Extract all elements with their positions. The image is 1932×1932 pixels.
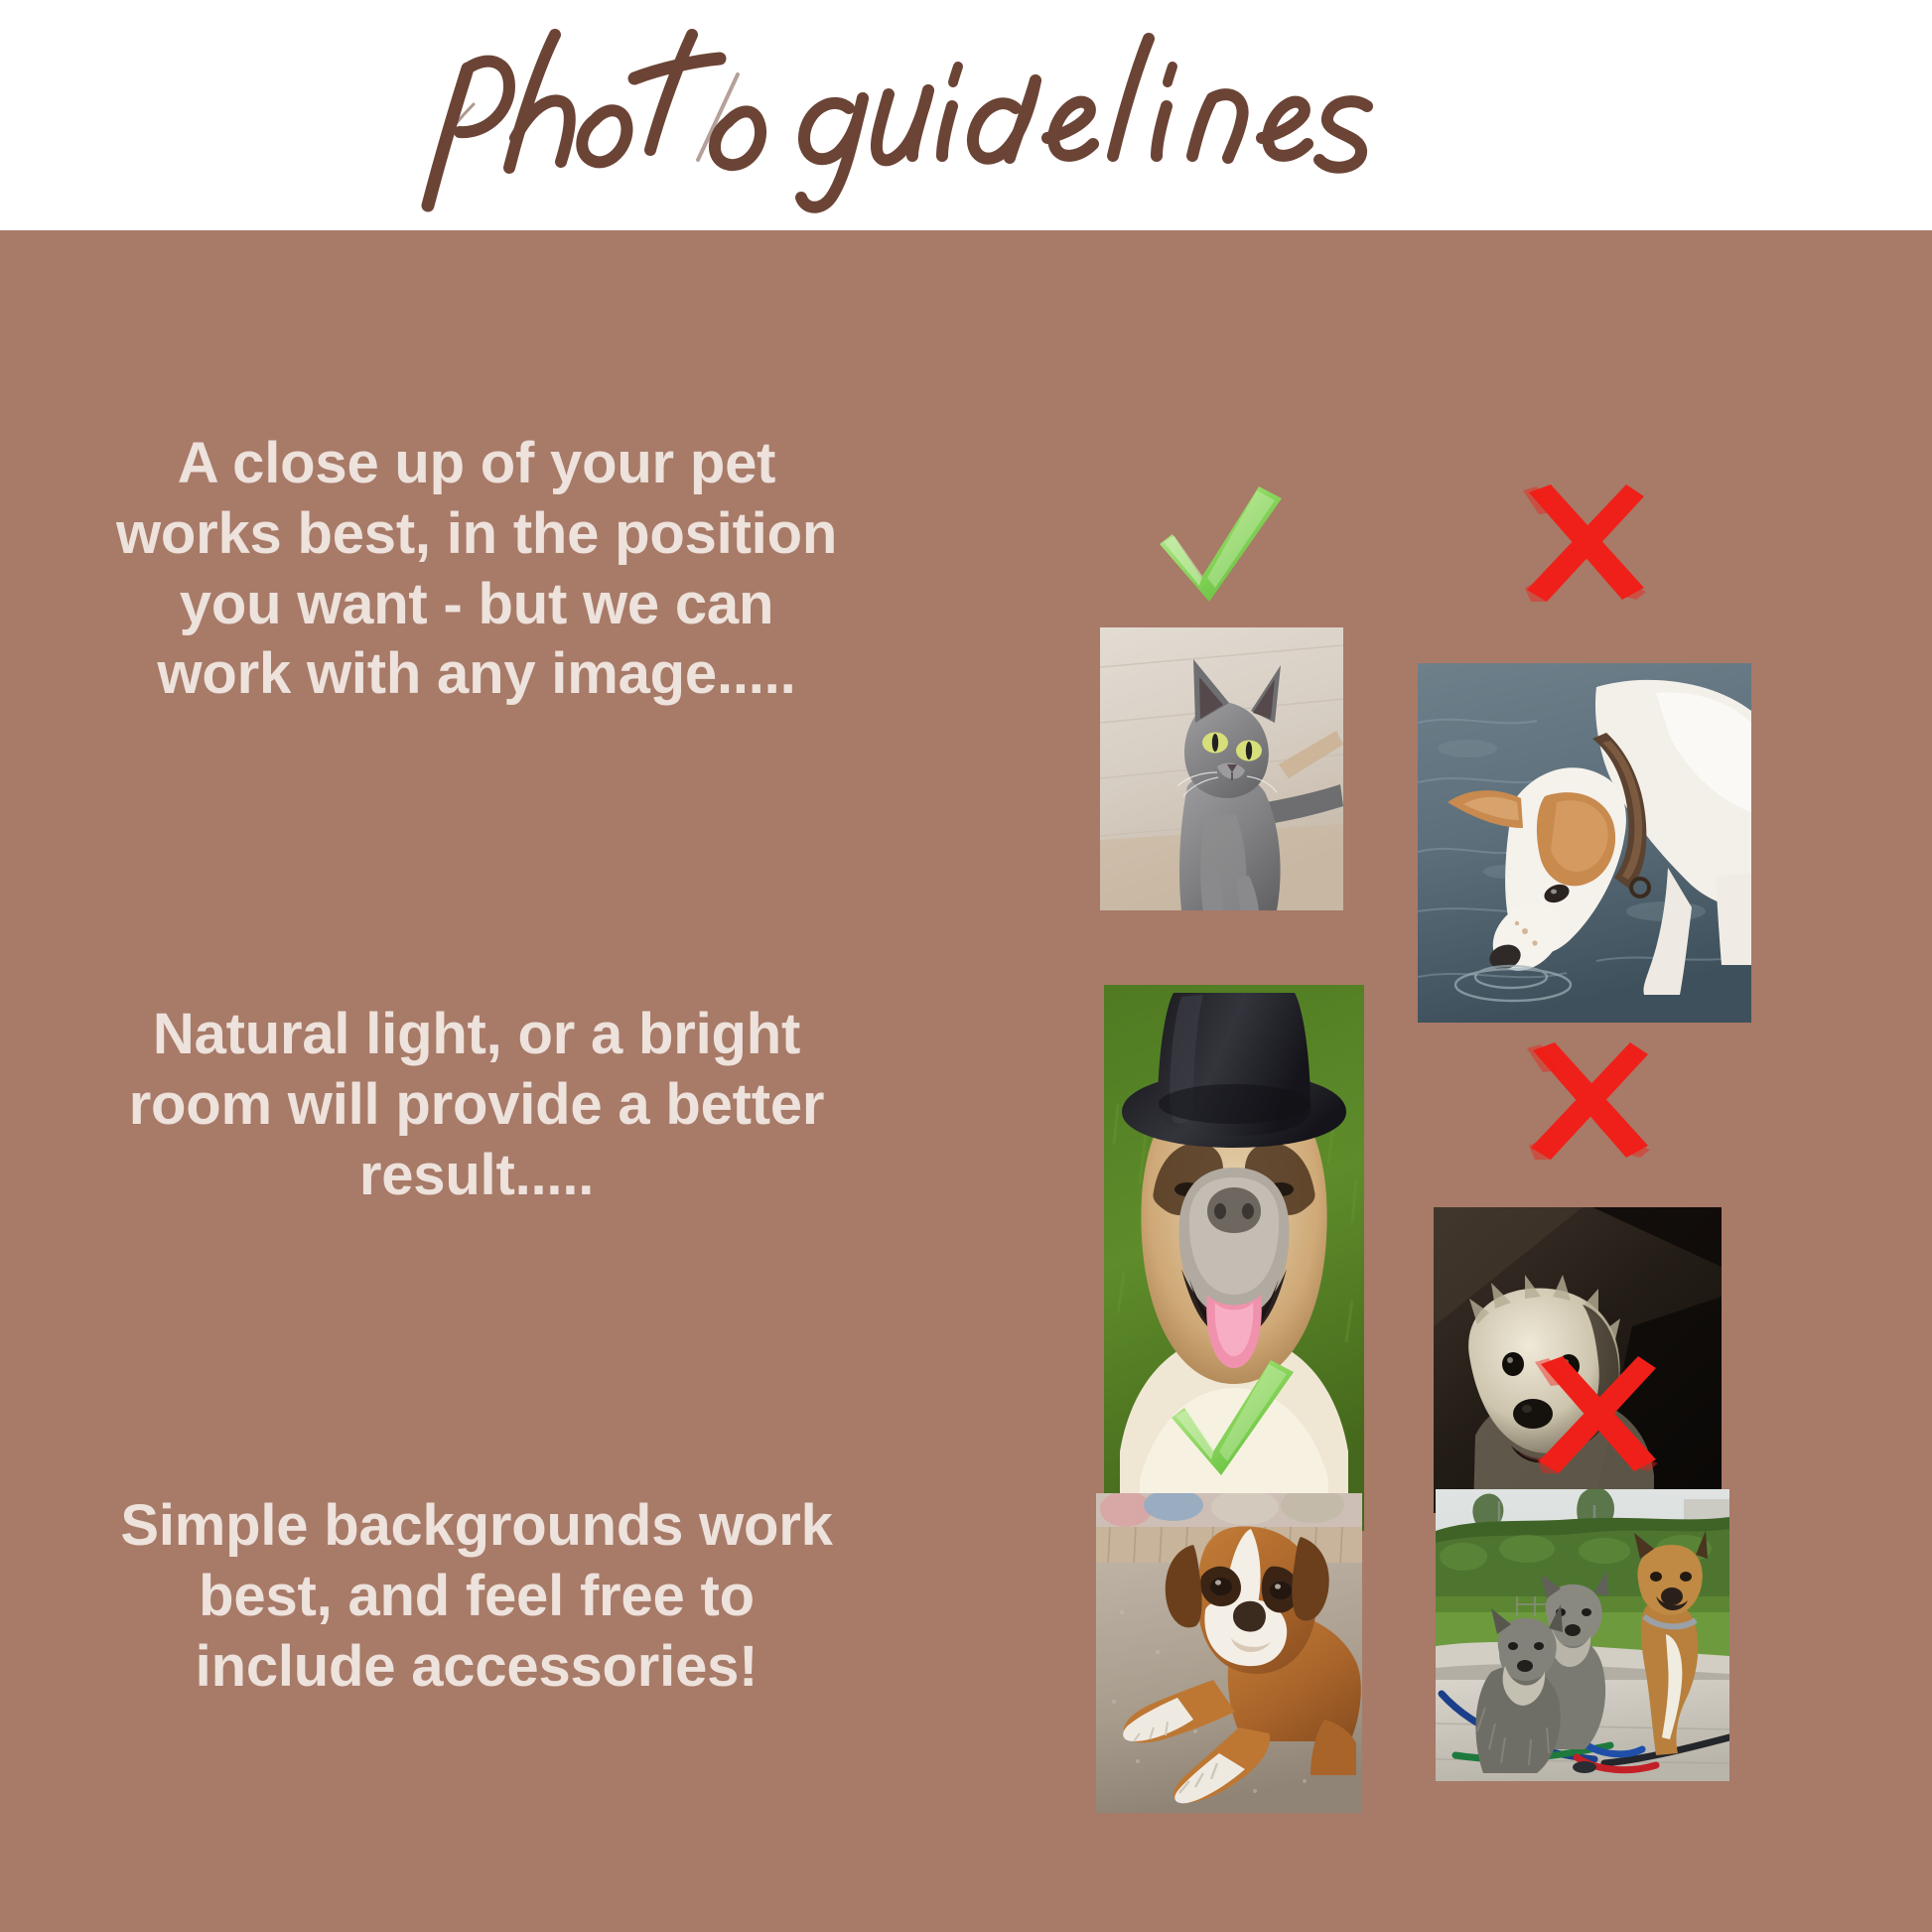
guideline-line: Natural light, or a bright xyxy=(60,1000,894,1070)
guideline-text-lighting: Natural light, or a bright room will pro… xyxy=(60,1000,894,1210)
guideline-line: Simple backgrounds work xyxy=(60,1491,894,1562)
check-icon xyxy=(1140,479,1299,608)
guidelines-panel: A close up of your pet works best, in th… xyxy=(0,230,1932,1932)
cross-icon xyxy=(1505,479,1664,608)
page-title: photo guidelines xyxy=(0,0,1932,230)
page-title-script: photo guidelines xyxy=(400,11,1532,219)
photo-guidelines-graphic: photo guidelines xyxy=(0,0,1932,1932)
boxer-puppy-photo: Boxer puppy lying on plain beige carpet … xyxy=(1096,1493,1362,1813)
guideline-line: result..... xyxy=(60,1141,894,1211)
guideline-text-background: Simple backgrounds work best, and feel f… xyxy=(60,1491,894,1702)
guideline-line: you want - but we can xyxy=(60,570,894,640)
guideline-text-closeup: A close up of your pet works best, in th… xyxy=(60,429,894,710)
check-icon xyxy=(1152,1352,1311,1481)
guideline-line: room will provide a better xyxy=(60,1070,894,1141)
header-band: photo guidelines xyxy=(0,0,1932,230)
guideline-line: work with any image..... xyxy=(60,639,894,710)
grey-cat-looking-up-photo: Grey Russian Blue cat sitting on a light… xyxy=(1100,627,1343,910)
guideline-line: best, and feel free to xyxy=(60,1562,894,1632)
guideline-line: works best, in the position xyxy=(60,499,894,570)
cross-icon xyxy=(1517,1350,1676,1479)
guideline-line: A close up of your pet xyxy=(60,429,894,499)
cross-icon xyxy=(1509,1036,1668,1166)
guideline-line: include accessories! xyxy=(60,1632,894,1703)
dog-drinking-water-photo: White and tan Jack Russell terrier with … xyxy=(1418,663,1751,1023)
three-dogs-leashes-photo: Three dogs - two grey schnauzers and a t… xyxy=(1436,1489,1729,1781)
